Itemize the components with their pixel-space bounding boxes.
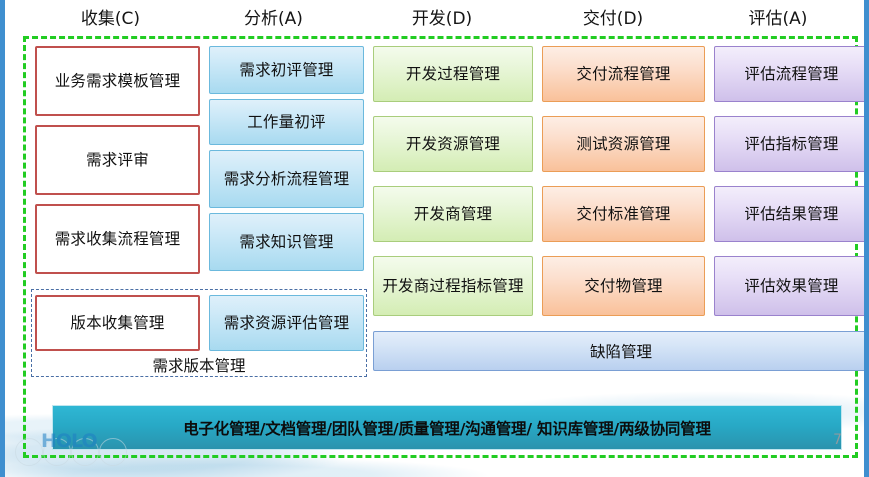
card-development-1[interactable]: 开发过程管理 bbox=[373, 46, 533, 102]
card-defect-management[interactable]: 缺陷管理 bbox=[373, 331, 869, 371]
card-delivery-3[interactable]: 交付标准管理 bbox=[542, 186, 705, 242]
process-grid: 业务需求模板管理 需求评审 需求收集流程管理 版本收集管理 需求初评管理 工作量… bbox=[31, 46, 851, 396]
card-analysis-4[interactable]: 需求知识管理 bbox=[209, 213, 364, 271]
column-header-delivery: 交付(D) bbox=[528, 4, 698, 34]
foundation-banner: 电子化管理/文档管理/团队管理/质量管理/沟通管理/ 知识库管理/两级协同管理 bbox=[52, 405, 842, 450]
column-header-development: 开发(D) bbox=[356, 4, 528, 34]
card-delivery-2[interactable]: 测试资源管理 bbox=[542, 116, 705, 172]
column-header-collect: 收集(C) bbox=[23, 4, 198, 34]
card-development-2[interactable]: 开发资源管理 bbox=[373, 116, 533, 172]
card-collect-2[interactable]: 需求评审 bbox=[35, 125, 200, 195]
card-delivery-4[interactable]: 交付物管理 bbox=[542, 256, 705, 316]
card-evaluation-4[interactable]: 评估效果管理 bbox=[714, 256, 869, 316]
card-delivery-1[interactable]: 交付流程管理 bbox=[542, 46, 705, 102]
card-development-4[interactable]: 开发商过程指标管理 bbox=[373, 256, 533, 316]
foundation-banner-label: 电子化管理/文档管理/团队管理/质量管理/沟通管理/ 知识库管理/两级协同管理 bbox=[183, 417, 711, 439]
card-collect-1[interactable]: 业务需求模板管理 bbox=[35, 46, 200, 116]
card-development-3[interactable]: 开发商管理 bbox=[373, 186, 533, 242]
card-analysis-1[interactable]: 需求初评管理 bbox=[209, 46, 364, 94]
card-evaluation-1[interactable]: 评估流程管理 bbox=[714, 46, 869, 102]
slide-canvas: 收集(C) 分析(A) 开发(D) 交付(D) 评估(A) 业务需求模板管理 需… bbox=[0, 0, 869, 477]
group-box-label: 需求版本管理 bbox=[31, 354, 367, 376]
card-evaluation-2[interactable]: 评估指标管理 bbox=[714, 116, 869, 172]
page-number: 7 bbox=[833, 432, 842, 448]
column-headers: 收集(C) 分析(A) 开发(D) 交付(D) 评估(A) bbox=[23, 4, 858, 36]
card-collect-3[interactable]: 需求收集流程管理 bbox=[35, 204, 200, 274]
card-analysis-2[interactable]: 工作量初评 bbox=[209, 99, 364, 145]
column-header-analysis: 分析(A) bbox=[191, 4, 356, 34]
column-header-evaluation: 评估(A) bbox=[698, 4, 858, 34]
card-analysis-3[interactable]: 需求分析流程管理 bbox=[209, 150, 364, 208]
card-evaluation-3[interactable]: 评估结果管理 bbox=[714, 186, 869, 242]
